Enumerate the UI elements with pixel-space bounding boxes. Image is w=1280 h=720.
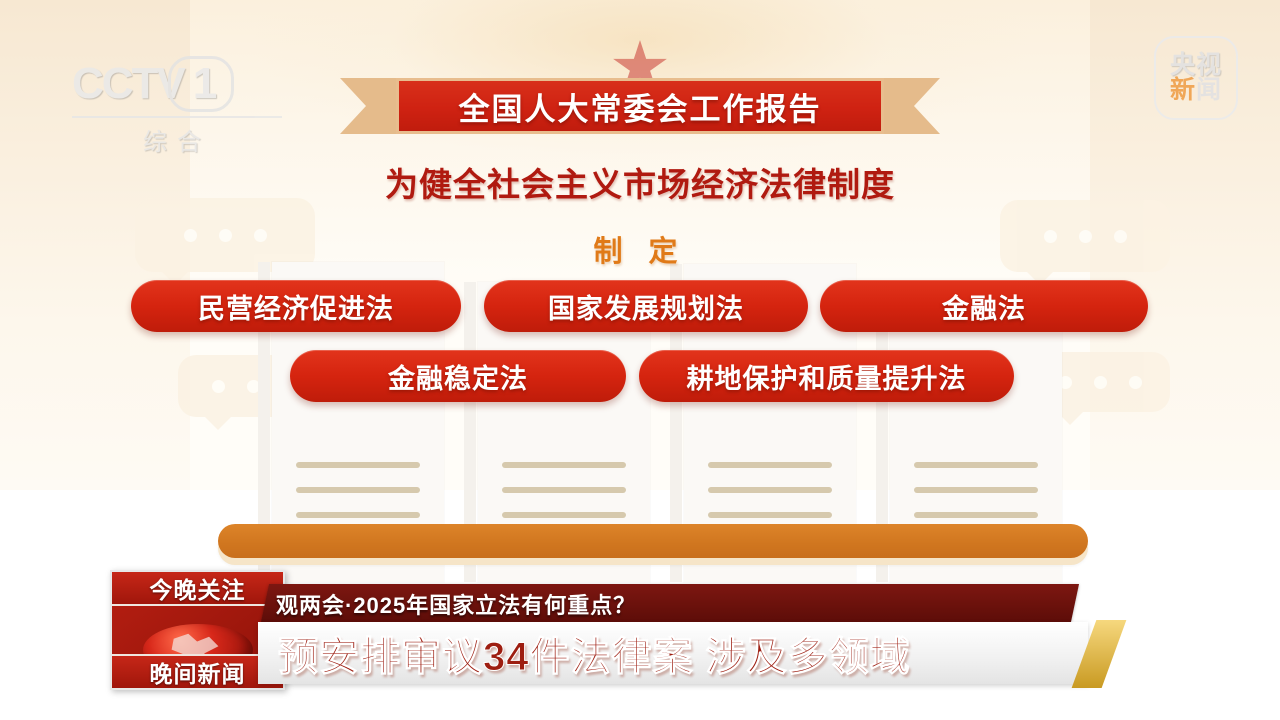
section-label-enact: 制 定 — [0, 228, 1280, 270]
kicker-text: 观两会·2025年国家立法有何重点？ — [276, 588, 1076, 616]
news-logo-accent-char: 新 — [1170, 76, 1196, 104]
ribbon-plate: 全国人大常委会工作报告 — [396, 78, 884, 134]
ribbon-tail-left — [340, 78, 402, 134]
cctv-logo-number: 1 — [168, 56, 234, 112]
orange-base-bar — [218, 524, 1088, 558]
cctv-logo-subtitle: 综合 — [72, 116, 282, 157]
program-badge-top-label: 今晚关注 — [112, 572, 283, 606]
news-logo-line2: 新闻 — [1170, 78, 1222, 104]
law-pill-label: 耕地保护和质量提升法 — [687, 357, 967, 396]
ribbon-tail-right — [878, 78, 940, 134]
report-title-ribbon: 全国人大常委会工作报告 — [340, 78, 940, 134]
law-pill: 国家发展规划法 — [484, 280, 808, 332]
graphic-subtitle: 为健全社会主义市场经济法律制度 — [0, 158, 1280, 206]
lower-third: 今晚关注 晚间新闻 观两会·2025年国家立法有何重点？ 预安排审议34件法律案… — [0, 560, 1280, 690]
cctv-news-app-logo: 央视 新闻 — [1154, 36, 1238, 120]
law-pill-label: 金融稳定法 — [388, 357, 528, 396]
cctv-channel-logo: CCTV1 综合 — [72, 56, 282, 146]
law-pill-label: 国家发展规划法 — [548, 287, 744, 326]
headline-text: 预安排审议34件法律案 涉及多领域 — [278, 628, 1098, 678]
news-logo-rest-char: 闻 — [1196, 76, 1222, 104]
broadcast-frame: CCTV1 综合 央视 新闻 全国人大常委会工作报告 为健全社会主义市场经济法律… — [0, 0, 1280, 720]
law-pill-label: 民营经济促进法 — [198, 287, 394, 326]
cctv-logo-mark: CCTV1 — [72, 56, 282, 112]
law-pill: 耕地保护和质量提升法 — [639, 350, 1014, 402]
report-title-text: 全国人大常委会工作报告 — [459, 84, 822, 129]
news-logo-line1: 央视 — [1170, 53, 1222, 79]
law-pill: 金融法 — [820, 280, 1148, 332]
law-pill: 民营经济促进法 — [131, 280, 461, 332]
law-pill: 金融稳定法 — [290, 350, 626, 402]
law-pill-label: 金融法 — [942, 287, 1026, 326]
